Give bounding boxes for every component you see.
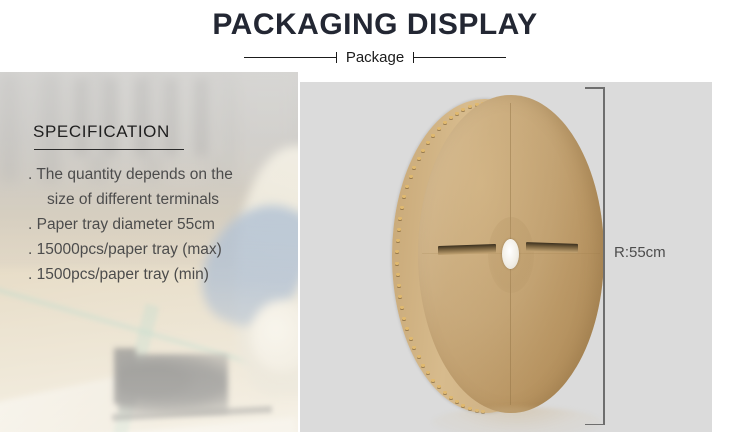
tray-staple-dot: [417, 355, 421, 358]
tray-staple-dot: [426, 371, 430, 374]
tray-staple-dot: [402, 195, 406, 198]
dimension-arm-bottom: [585, 424, 604, 426]
tray-staple-dot: [421, 364, 425, 367]
tray-staple-dot: [455, 400, 459, 403]
tray-staple-dot: [397, 228, 401, 231]
tray-staple-dot: [398, 217, 402, 220]
tray-staple-dot: [437, 385, 441, 388]
tray-staple-dot: [398, 295, 402, 298]
cardboard-paper-tray-reel-icon: [392, 95, 604, 417]
tray-staple-dot: [412, 166, 416, 169]
tray-staple-dot: [449, 116, 453, 119]
divider-left-line: [244, 57, 336, 58]
divider-left: [244, 50, 337, 64]
divider-right-line: [414, 57, 506, 58]
specification-block: SPECIFICATION . The quantity depends on …: [0, 72, 298, 432]
tray-staple-dot: [443, 121, 447, 124]
tray-staple-dot: [461, 108, 465, 111]
tray-staple-dot: [405, 327, 409, 330]
tray-staple-dot: [400, 306, 404, 309]
product-image-panel: R:55cm: [300, 82, 712, 432]
spec-item: . 15000pcs/paper tray (max): [28, 237, 298, 262]
dimension-vertical-line: [603, 87, 605, 425]
tray-staple-dot: [400, 206, 404, 209]
tray-staple-dot: [443, 391, 447, 394]
tray-staple-dot: [402, 317, 406, 320]
specification-underline: [34, 149, 184, 150]
workshop-photo-panel: SPECIFICATION . The quantity depends on …: [0, 72, 298, 432]
tray-staple-dot: [437, 127, 441, 130]
divider-right: [413, 50, 506, 64]
tray-reflection: [432, 407, 602, 432]
tray-staple-dot: [395, 250, 399, 253]
tray-staple-dot: [397, 284, 401, 287]
specification-list: . The quantity depends on the size of di…: [28, 162, 298, 287]
page-title: PACKAGING DISPLAY: [0, 8, 750, 42]
tray-staple-dot: [395, 262, 399, 265]
tray-staple-dot: [421, 149, 425, 152]
tray-staple-dot: [431, 379, 435, 382]
subtitle-label: Package: [337, 49, 413, 66]
dimension-bracket: R:55cm: [594, 87, 654, 425]
subtitle-divider: Package: [0, 46, 750, 68]
spec-item: size of different terminals: [28, 187, 298, 212]
tray-center-hole: [502, 239, 519, 269]
tray-staple-dot: [455, 112, 459, 115]
spec-item: . Paper tray diameter 55cm: [28, 212, 298, 237]
tray-staple-dot: [431, 134, 435, 137]
tray-staple-dot: [449, 396, 453, 399]
page-header: PACKAGING DISPLAY Package: [0, 0, 750, 72]
spec-item: . The quantity depends on the: [28, 162, 298, 187]
dimension-label: R:55cm: [614, 244, 666, 261]
tray-staple-dot: [417, 157, 421, 160]
tray-staple-dot: [426, 141, 430, 144]
tray-staple-dot: [396, 239, 400, 242]
tray-slot-right: [526, 242, 578, 253]
tray-staple-dot: [396, 273, 400, 276]
tray-staple-dot: [409, 175, 413, 178]
specification-heading: SPECIFICATION: [33, 122, 170, 142]
tray-staple-dot: [412, 346, 416, 349]
spec-item: . 1500pcs/paper tray (min): [28, 262, 298, 287]
tray-staple-dot: [405, 185, 409, 188]
tray-staple-dot: [468, 105, 472, 108]
dimension-arm-top: [585, 87, 604, 89]
tray-staple-dot: [461, 404, 465, 407]
tray-staple-dot: [409, 337, 413, 340]
